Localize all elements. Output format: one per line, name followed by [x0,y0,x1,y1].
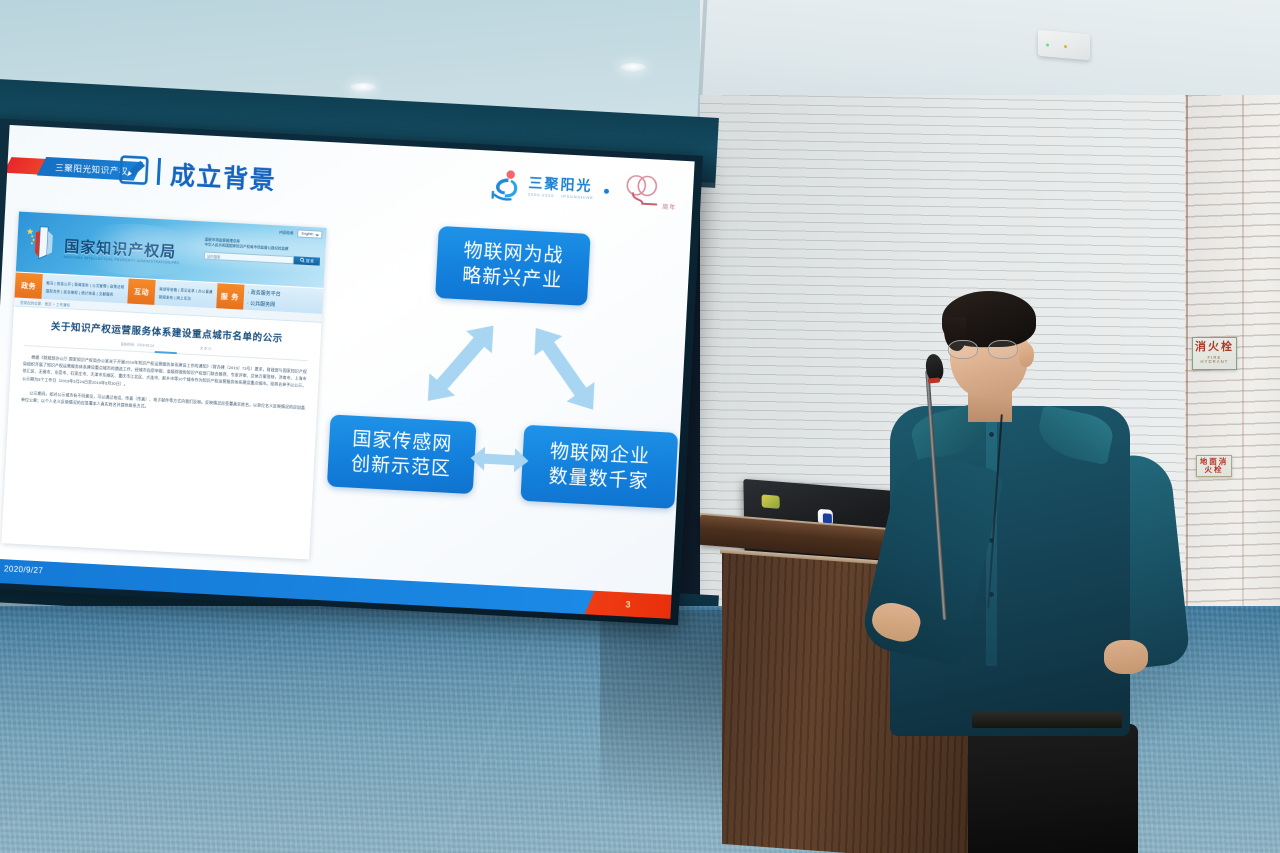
fire-hydrant-sign: 消火栓 FIRE HYDRANT [1192,337,1237,370]
header-divider [157,158,161,185]
service-link[interactable]: · 政务服务平台 [247,288,280,297]
arrow-left-diagonal-icon [403,306,519,420]
shirt-button [989,432,994,437]
nav-row[interactable]: 国际合作 | 民生维权 | 统计信息 | 文献服务 [46,288,124,297]
nav-row[interactable]: 局领导信箱 | 意见征求 | 办公直通 [159,286,213,294]
nav-badge-government[interactable]: 政务 [14,272,42,298]
article-body: 关于知识产权运营服务体系建设重点城市名单的公示 发布时间：2019-05-24 … [9,306,322,419]
brand-name: 三聚阳光 [528,176,594,193]
presenter-legs [968,724,1138,853]
downlight-icon [350,83,376,92]
nav-group-interaction[interactable]: 互动 局领导信箱 | 意见征求 | 办公直通 新闻发布 | 网上互动 [127,279,217,309]
presentation-slide: 三聚阳光知识产权 成立背景 [0,125,695,619]
language-switcher[interactable]: 内容检索 English [279,228,323,238]
brand-latin: IPSUNSHINE [561,195,594,201]
brand-years: 2000-2020 [528,193,555,198]
search-input[interactable]: 站内搜索 [204,251,294,264]
slide-date: 2020/9/27 [4,564,44,575]
diagram-box-bottom-right: 物联网企业 数量数千家 [520,425,678,509]
diagram-box-bottom-left: 国家传感网 创新示范区 [327,414,477,494]
arrow-horizontal-icon [467,438,533,481]
font-size-controls[interactable]: 大 中 小 [200,345,212,351]
nav-service-links: · 政务服务平台 · 公共服务网 [243,285,285,312]
nav-links-government: 概况 | 信息公开 | 新闻发布 | 公文管理 | 政策法规 国际合作 | 民生… [41,274,128,304]
search-icon [300,258,305,263]
nav-badge-interaction[interactable]: 互动 [127,279,155,305]
presenter-hair [942,291,1036,347]
relationship-diagram: 物联网为战 略新兴产业 国家传感网 创新示范区 物联网企业 数量数千家 [323,219,689,587]
anniversary-label: 周年 [662,202,676,212]
gov-org-name-en: NATIONAL INTELLECTUAL PROPERTY ADMINISTR… [64,256,180,265]
ceiling-access-point-icon [1038,30,1090,61]
search-button[interactable]: 搜 索 [294,256,320,265]
gov-logo-text: 国家知识产权局 NATIONAL INTELLECTUAL PROPERTY A… [63,239,180,268]
logo-separator-dot [604,188,609,193]
downlight-icon [620,63,646,72]
nav-group-service[interactable]: 服 务 · 政务服务平台 · 公共服务网 [216,283,285,312]
nav-badge-service[interactable]: 服 务 [216,283,244,309]
presenter-belt [972,712,1122,728]
brand-subline: 2000-2020 IPSUNSHINE [528,193,594,200]
service-link[interactable]: · 公共服务网 [247,299,280,308]
presenter [876,288,1176,853]
presenter-right-hand [1104,640,1148,674]
content-search-label: 内容检索 [279,230,294,236]
page-title: 成立背景 [169,156,277,198]
conference-room: 消火栓 FIRE HYDRANT 地面消火栓 灭火器箱 三聚阳光知识产权 [0,0,1280,853]
arrow-right-diagonal-icon [507,312,623,426]
slide-page-number: 3 [584,590,671,619]
anniversary-mark-icon: 周年 [618,173,676,212]
fire-sign-secondary: 地面消火栓 [1196,455,1232,477]
eyeglasses-icon [948,340,1034,360]
sanju-sunshine-logo-icon [487,168,523,202]
brand-name-block: 三聚阳光 2000-2020 IPSUNSHINE [528,176,595,200]
pencil-edit-icon [119,155,150,186]
led-video-wall[interactable]: 三聚阳光知识产权 成立背景 [0,118,703,625]
publish-date: 发布时间：2019-05-24 [120,341,154,348]
nav-links-interaction: 局领导信箱 | 意见征求 | 办公直通 新闻发布 | 网上互动 [154,280,217,308]
gov-logo: 国家知识产权局 NATIONAL INTELLECTUAL PROPERTY A… [24,224,181,268]
gov-website-screenshot: 内容检索 English [1,212,326,560]
microphone-indicator [928,377,940,383]
gov-org-name-cn: 国家知识产权局 [64,239,181,260]
nipa-emblem-icon [24,224,60,262]
language-select[interactable]: English [297,229,322,238]
laptop-sticker [762,494,780,508]
website-banner-right: 国家市场监督管理总局 中华人民共和国国家知识产权局市场监管公报纪检监察 站内搜索… [204,237,321,265]
diagram-box-top: 物联网为战 略新兴产业 [435,226,591,306]
nav-row[interactable]: 新闻发布 | 网上互动 [159,294,213,302]
